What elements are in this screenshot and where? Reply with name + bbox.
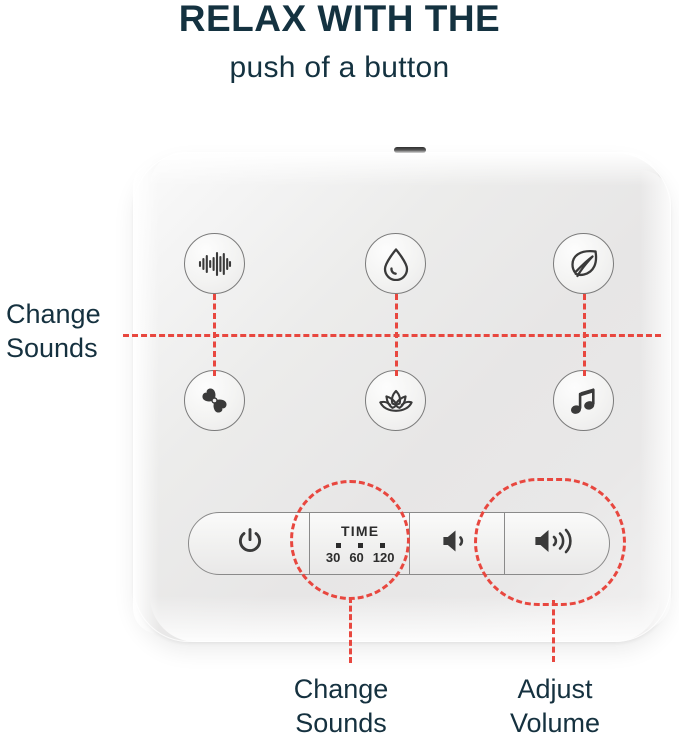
callout-tick-col3 [583,294,586,376]
sound-button-white-noise[interactable] [184,233,245,294]
power-icon [238,528,262,560]
callout-label-line2: Sounds [236,706,446,740]
callout-tick-volume [552,600,555,662]
sound-button-water[interactable] [365,233,426,294]
callout-label-line1: Adjust [450,672,660,706]
sound-button-nature[interactable] [553,233,614,294]
lotus-flower-icon [378,388,414,414]
page-title: RELAX WITH THE [0,0,679,40]
sound-button-meditation[interactable] [365,370,426,431]
callout-label-line2: Volume [450,706,660,740]
water-droplet-icon [381,247,411,281]
sound-button-fan[interactable] [184,370,245,431]
callout-tick-col1 [213,294,216,376]
top-vent-slot-icon [394,147,426,153]
callout-label-line1: Change [236,672,446,706]
screenshot-stage: RELAX WITH THE push of a button [0,0,679,743]
callout-label-line1: Change [6,297,101,331]
fan-icon [198,384,231,417]
sound-wave-icon [198,251,232,277]
leaf-icon [568,248,599,279]
callout-label-change-sounds-bottom: Change Sounds [236,672,446,740]
callout-circle-timer [290,480,410,600]
callout-tick-timer [349,597,352,663]
callout-label-adjust-volume: Adjust Volume [450,672,660,740]
callout-tick-col2 [395,294,398,376]
callout-label-change-sounds-left: Change Sounds [6,297,101,365]
callout-pill-volume [474,478,626,606]
callout-label-line2: Sounds [6,331,101,365]
volume-low-icon [441,527,474,560]
sound-button-music[interactable] [553,370,614,431]
music-note-icon [570,386,598,416]
page-subtitle: push of a button [0,50,679,86]
callout-line-change-sounds [123,334,661,337]
